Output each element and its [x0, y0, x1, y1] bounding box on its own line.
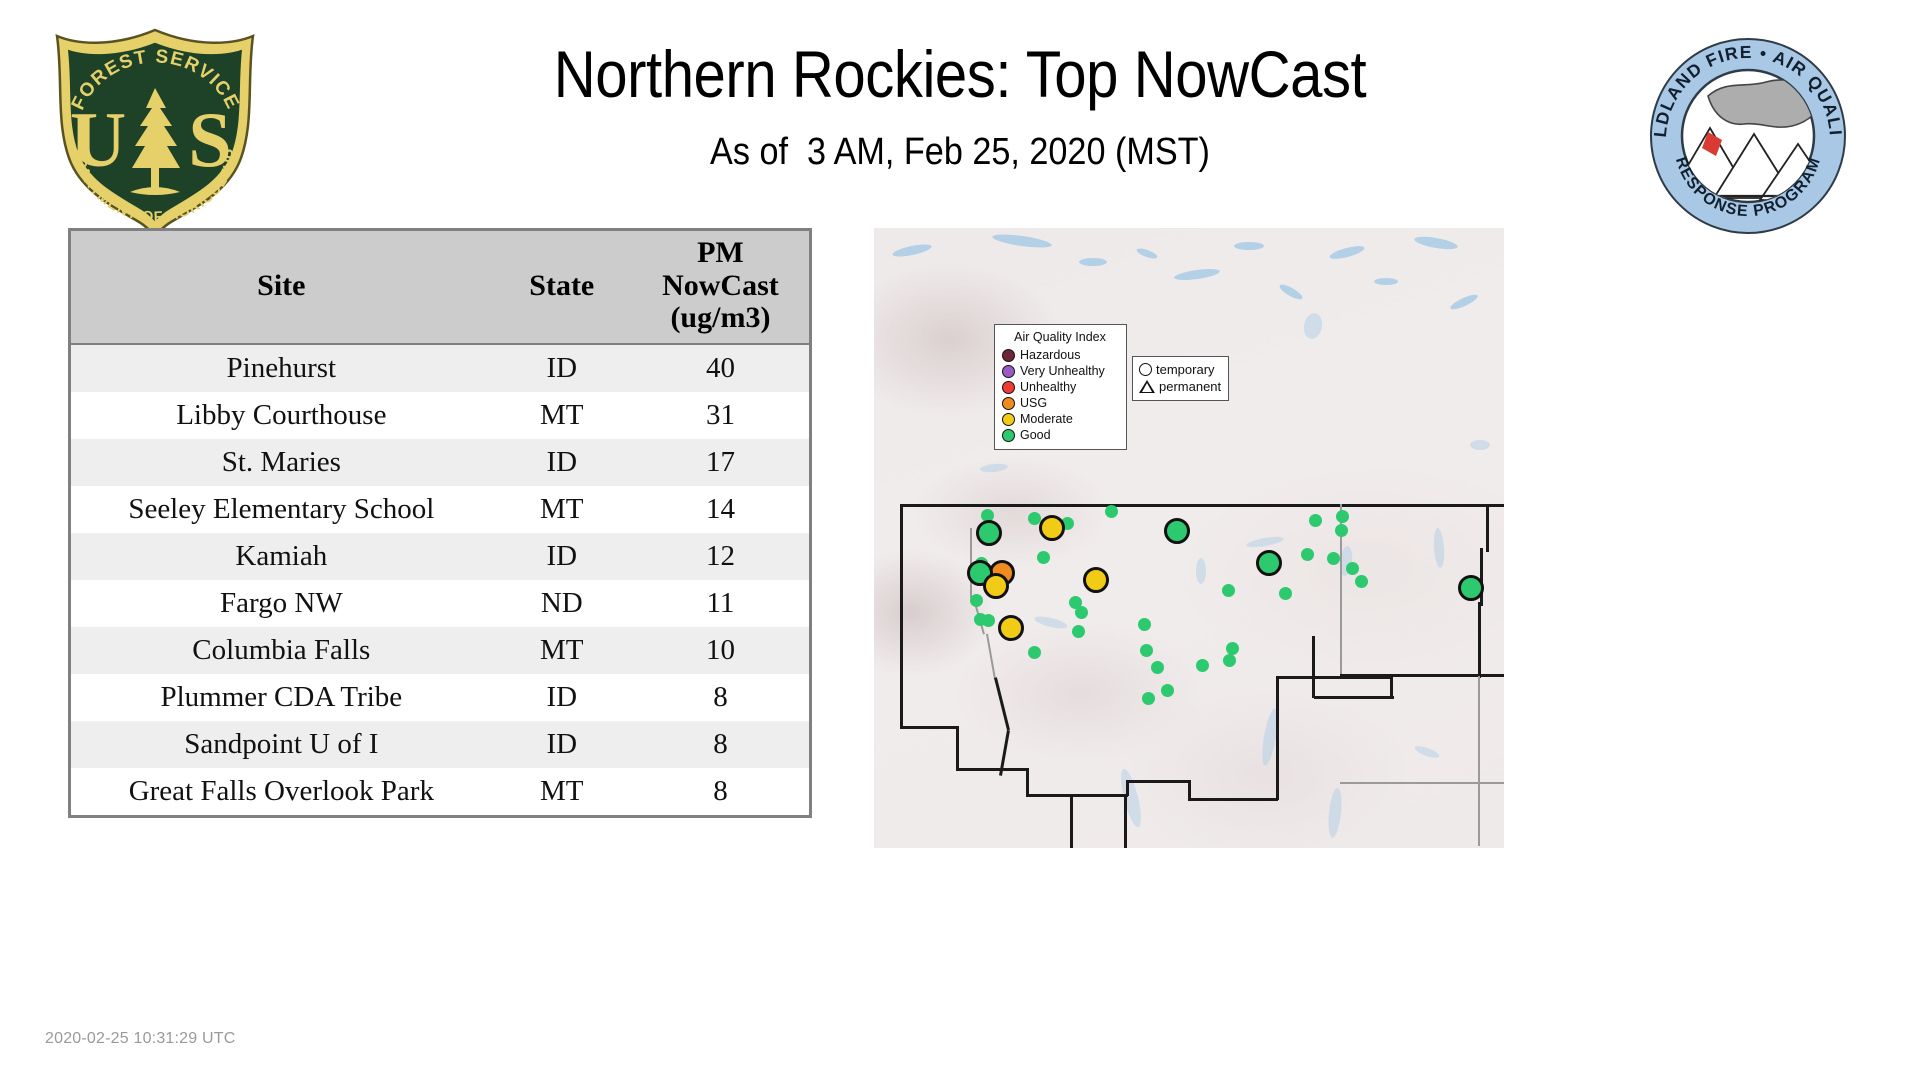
aqi-legend-item: Very Unhealthy	[1002, 363, 1118, 379]
svg-text:U: U	[70, 96, 126, 183]
table-body: PinehurstID40Libby CourthouseMT31St. Mar…	[71, 344, 809, 815]
map-site-marker[interactable]	[1037, 551, 1050, 564]
column-header-pm-line1: PM	[632, 237, 809, 269]
table-row: KamiahID12	[71, 533, 809, 580]
table-row: Columbia FallsMT10	[71, 627, 809, 674]
cell-state: ND	[492, 580, 632, 627]
table-row: Seeley Elementary SchoolMT14	[71, 486, 809, 533]
column-header-pm-line3: (ug/m3)	[632, 302, 809, 334]
map-site-marker[interactable]	[1072, 625, 1085, 638]
map-terrain-basemap	[874, 228, 1504, 848]
state-border	[1312, 636, 1315, 698]
map-site-marker[interactable]	[1039, 515, 1065, 541]
legend-item-temporary: temporary	[1139, 361, 1221, 378]
generated-timestamp: 2020-02-25 10:31:29 UTC	[45, 1030, 236, 1048]
cell-state: ID	[492, 439, 632, 486]
cell-site: St. Maries	[71, 439, 492, 486]
page-title: Northern Rockies: Top NowCast	[379, 40, 1541, 109]
cell-state: MT	[492, 627, 632, 674]
map-site-marker[interactable]	[998, 615, 1024, 641]
legend-item-permanent: permanent	[1139, 378, 1221, 395]
cell-site: Fargo NW	[71, 580, 492, 627]
state-border	[1478, 676, 1480, 846]
map-site-marker[interactable]	[970, 594, 983, 607]
water-body	[1079, 258, 1107, 266]
cell-site: Pinehurst	[71, 344, 492, 392]
air-quality-map[interactable]: Air Quality Index HazardousVery Unhealth…	[874, 228, 1504, 848]
aqi-legend-item: Hazardous	[1002, 347, 1118, 363]
cell-site: Seeley Elementary School	[71, 486, 492, 533]
map-site-marker[interactable]	[1346, 562, 1359, 575]
page-subtitle: As of 3 AM, Feb 25, 2020 (MST)	[366, 131, 1554, 174]
cell-pm-nowcast: 8	[632, 721, 809, 768]
state-border	[900, 726, 958, 729]
legend-label-permanent: permanent	[1159, 379, 1221, 394]
table-row: Fargo NWND11	[71, 580, 809, 627]
cell-site: Columbia Falls	[71, 627, 492, 674]
map-site-marker[interactable]	[976, 520, 1002, 546]
column-header-state: State	[492, 231, 632, 344]
aqi-color-swatch-icon	[1002, 365, 1015, 378]
aqi-color-swatch-icon	[1002, 429, 1015, 442]
aqi-legend-label: USG	[1020, 396, 1047, 410]
map-site-marker[interactable]	[1226, 642, 1239, 655]
map-site-marker[interactable]	[1151, 661, 1164, 674]
cell-site: Sandpoint U of I	[71, 721, 492, 768]
state-border	[1276, 676, 1279, 800]
cell-state: ID	[492, 674, 632, 721]
map-site-marker[interactable]	[1161, 684, 1174, 697]
map-site-marker[interactable]	[1083, 567, 1109, 593]
map-site-marker[interactable]	[1327, 552, 1340, 565]
table-row: Libby CourthouseMT31	[71, 392, 809, 439]
water-body	[1196, 558, 1206, 584]
cell-state: MT	[492, 392, 632, 439]
cell-state: ID	[492, 344, 632, 392]
state-border	[1340, 782, 1504, 784]
aqi-legend-rows: HazardousVery UnhealthyUnhealthyUSGModer…	[1002, 347, 1118, 443]
aqi-legend-label: Unhealthy	[1020, 380, 1076, 394]
cell-pm-nowcast: 12	[632, 533, 809, 580]
aqi-color-swatch-icon	[1002, 381, 1015, 394]
map-site-marker[interactable]	[1196, 659, 1209, 672]
water-body	[1470, 440, 1490, 450]
map-site-marker[interactable]	[1458, 575, 1484, 601]
page-header: FOREST SERVICE DEPARTMENT OF AGRICULTURE…	[0, 0, 1920, 230]
map-site-marker[interactable]	[1301, 548, 1314, 561]
column-header-pm-nowcast: PM NowCast (ug/m3)	[632, 231, 809, 344]
state-border	[956, 768, 1028, 771]
state-border	[1390, 676, 1393, 698]
triangle-icon	[1139, 380, 1155, 393]
state-border	[900, 504, 903, 620]
state-border	[1126, 780, 1190, 783]
cell-pm-nowcast: 11	[632, 580, 809, 627]
cell-pm-nowcast: 17	[632, 439, 809, 486]
map-site-marker[interactable]	[1140, 644, 1153, 657]
table-header: Site State PM NowCast (ug/m3)	[71, 231, 809, 344]
cell-pm-nowcast: 8	[632, 768, 809, 815]
aqi-color-swatch-icon	[1002, 349, 1015, 362]
aqi-legend-item: USG	[1002, 395, 1118, 411]
map-site-marker[interactable]	[1223, 654, 1236, 667]
cell-pm-nowcast: 8	[632, 674, 809, 721]
cell-state: MT	[492, 768, 632, 815]
cell-site: Kamiah	[71, 533, 492, 580]
column-header-pm-line2: NowCast	[632, 270, 809, 302]
map-site-marker[interactable]	[1142, 692, 1155, 705]
nowcast-table: Site State PM NowCast (ug/m3) PinehurstI…	[71, 231, 809, 815]
aqi-legend: Air Quality Index HazardousVery Unhealth…	[994, 324, 1127, 450]
aqi-legend-label: Very Unhealthy	[1020, 364, 1105, 378]
aqi-legend-item: Moderate	[1002, 411, 1118, 427]
aqi-color-swatch-icon	[1002, 397, 1015, 410]
cell-state: MT	[492, 486, 632, 533]
state-border	[900, 618, 903, 658]
forest-service-logo-icon: FOREST SERVICE DEPARTMENT OF AGRICULTURE…	[48, 26, 263, 236]
cell-pm-nowcast: 31	[632, 392, 809, 439]
cell-pm-nowcast: 10	[632, 627, 809, 674]
table-header-row: Site State PM NowCast (ug/m3)	[71, 231, 809, 344]
aqi-legend-title: Air Quality Index	[1002, 330, 1118, 344]
state-border	[1124, 794, 1127, 848]
svg-text:S: S	[188, 96, 231, 183]
aqi-legend-item: Unhealthy	[1002, 379, 1118, 395]
wildland-fire-air-quality-logo-icon: WILDLAND FIRE • AIR QUALITY RESPONSE PRO…	[1648, 36, 1848, 236]
map-site-marker[interactable]	[1028, 646, 1041, 659]
cell-state: ID	[492, 533, 632, 580]
map-site-marker[interactable]	[1279, 587, 1292, 600]
circle-icon	[1139, 363, 1152, 376]
map-site-marker[interactable]	[1164, 518, 1190, 544]
international-border	[900, 504, 1504, 507]
cell-pm-nowcast: 14	[632, 486, 809, 533]
state-border	[900, 656, 903, 728]
map-site-marker[interactable]	[1355, 575, 1368, 588]
map-site-marker[interactable]	[1256, 550, 1282, 576]
state-border	[1478, 602, 1481, 678]
state-border	[1026, 768, 1029, 796]
map-site-marker[interactable]	[982, 614, 995, 627]
state-border	[1314, 696, 1394, 699]
aqi-color-swatch-icon	[1002, 413, 1015, 426]
state-border	[1070, 796, 1073, 848]
state-border	[1486, 504, 1489, 552]
nowcast-table-container: Site State PM NowCast (ug/m3) PinehurstI…	[68, 228, 812, 818]
water-body	[1374, 278, 1398, 285]
monitor-type-legend: temporary permanent	[1132, 356, 1229, 401]
table-row: Plummer CDA TribeID8	[71, 674, 809, 721]
map-site-marker[interactable]	[1336, 510, 1349, 523]
aqi-legend-label: Good	[1020, 428, 1051, 442]
state-border	[956, 726, 959, 770]
aqi-legend-label: Moderate	[1020, 412, 1073, 426]
map-site-marker[interactable]	[983, 573, 1009, 599]
table-row: St. MariesID17	[71, 439, 809, 486]
cell-site: Plummer CDA Tribe	[71, 674, 492, 721]
legend-label-temporary: temporary	[1156, 362, 1215, 377]
aqi-legend-label: Hazardous	[1020, 348, 1080, 362]
map-site-marker[interactable]	[1222, 584, 1235, 597]
map-site-marker[interactable]	[1075, 606, 1088, 619]
map-site-marker[interactable]	[1028, 512, 1041, 525]
aqi-legend-item: Good	[1002, 427, 1118, 443]
table-row: Great Falls Overlook ParkMT8	[71, 768, 809, 815]
map-site-marker[interactable]	[1105, 505, 1118, 518]
state-border	[1188, 798, 1278, 801]
cell-pm-nowcast: 40	[632, 344, 809, 392]
table-row: Sandpoint U of IID8	[71, 721, 809, 768]
state-border	[1026, 794, 1128, 797]
column-header-site: Site	[71, 231, 492, 344]
state-border	[1188, 780, 1191, 800]
cell-state: ID	[492, 721, 632, 768]
water-body	[1234, 242, 1264, 250]
cell-site: Libby Courthouse	[71, 392, 492, 439]
title-block: Northern Rockies: Top NowCast As of 3 AM…	[300, 40, 1620, 174]
map-site-marker[interactable]	[1335, 524, 1348, 537]
cell-site: Great Falls Overlook Park	[71, 768, 492, 815]
map-site-marker[interactable]	[1138, 618, 1151, 631]
map-site-marker[interactable]	[1309, 514, 1322, 527]
state-border	[1480, 548, 1483, 606]
table-row: PinehurstID40	[71, 344, 809, 392]
